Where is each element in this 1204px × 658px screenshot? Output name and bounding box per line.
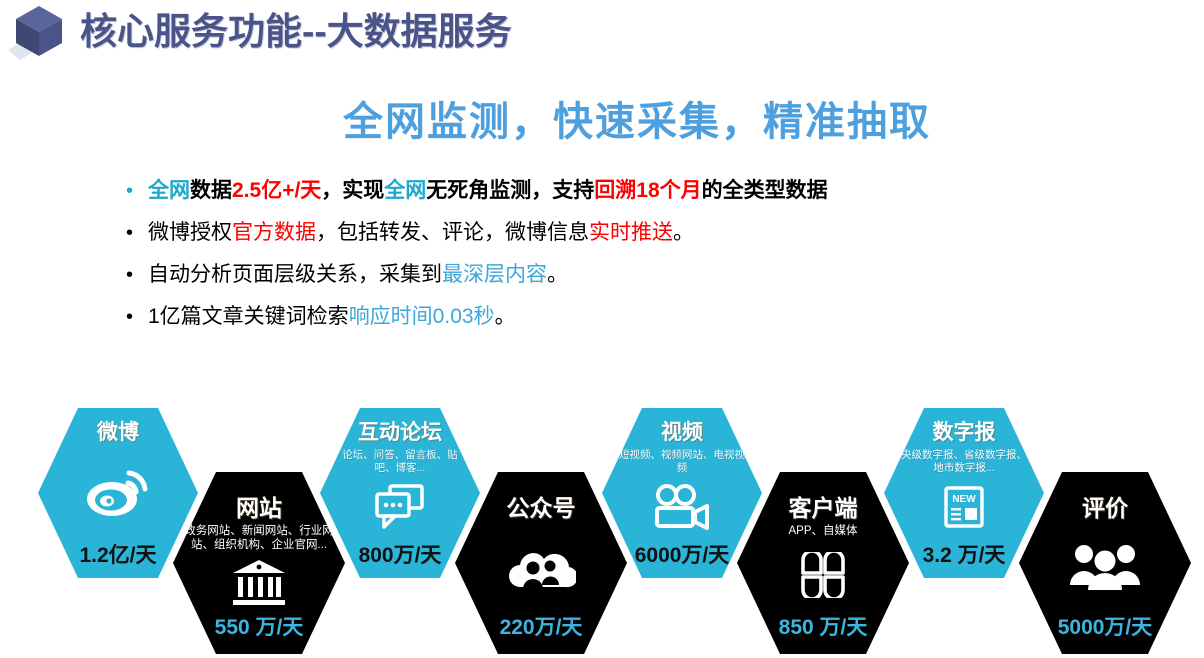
bullet-text-run: 自动分析页面层级关系，采集到 (148, 263, 442, 286)
hexagon-title: 数字报 (933, 421, 996, 445)
hexagon-title: 公众号 (507, 496, 576, 520)
hexagon-title: 客户端 (789, 496, 858, 520)
page-title: 核心服务功能--大数据服务 (80, 1, 512, 55)
hexagon-subtitle: 论坛、问答、留言板、贴吧、博客... (336, 449, 464, 475)
bullet-text-run: 实时推送 (589, 221, 673, 244)
bullet-text-run: ，实现 (321, 179, 384, 202)
bullet-text-run: 全网 (384, 179, 426, 202)
hexagon-card[interactable]: 视频短视频、视频网站、电视视频 6000万/天 (602, 408, 762, 578)
bullet-text-run: 微博授权 (148, 221, 232, 244)
hexagon-value: 5000万/天 (1058, 611, 1153, 654)
hexagon-value: 800万/天 (359, 539, 442, 578)
hero-title: 全网监测，快速采集，精准抽取 (0, 89, 1204, 147)
people-cloud-icon (506, 520, 576, 611)
hexagon-subtitle: 短视频、视频网站、电视视频 (618, 449, 746, 475)
bullet-marker: • (126, 220, 148, 246)
bullet-text-run: 。 (495, 305, 516, 328)
bullet-text-run: 的全类型数据 (702, 179, 828, 202)
bullet-item: •1亿篇文章关键词检索响应时间0.03秒。 (126, 304, 1026, 330)
bullet-marker: • (126, 304, 148, 330)
hexagon-value: 1.2亿/天 (79, 539, 156, 578)
hexagon-value: 6000万/天 (635, 539, 730, 578)
chat-bubbles-icon (374, 475, 426, 539)
bullet-text: 1亿篇文章关键词检索响应时间0.03秒。 (148, 304, 1026, 330)
hexagon-title: 视频 (661, 421, 703, 445)
hexagon-card[interactable]: 微博 1.2亿/天 (38, 408, 198, 578)
hexagon-card[interactable]: 评价 5000万/天 (1019, 472, 1191, 654)
group-people-icon (1067, 520, 1143, 611)
bullet-text-run: 全网 (148, 179, 190, 202)
bank-icon (231, 552, 287, 611)
hexagon-value: 3.2 万/天 (923, 539, 1006, 578)
hexagon-title: 互动论坛 (358, 421, 442, 445)
bullet-marker: • (126, 178, 148, 204)
hexagon-value: 550 万/天 (215, 611, 304, 654)
hexagon-row: 微博 1.2亿/天网站政务网站、新闻网站、行业网站、组织机构、企业官网... 5… (0, 400, 1204, 658)
newspaper-new-icon: NEW (944, 475, 984, 539)
bullet-text-run: 1亿篇文章关键词检索 (148, 305, 349, 328)
bullet-marker: • (126, 262, 148, 288)
hexagon-subtitle: 政务网站、新闻网站、行业网站、组织机构、企业官网... (184, 524, 334, 552)
weibo-icon (85, 445, 151, 539)
page-header: 核心服务功能--大数据服务 (0, 0, 1204, 62)
hexagon-value: 220万/天 (500, 611, 583, 654)
hexagon-card[interactable]: 网站政务网站、新闻网站、行业网站、组织机构、企业官网... 550 万/天 (173, 472, 345, 654)
bullet-item: •自动分析页面层级关系，采集到最深层内容。 (126, 262, 1026, 288)
hexagon-card[interactable]: 公众号 220万/天 (455, 472, 627, 654)
bullet-text-run: 响应时间0.03秒 (349, 305, 495, 328)
hexagon-card[interactable]: 客户端APP、自媒体 850 万/天 (737, 472, 909, 654)
hexagon-title: 微博 (97, 421, 139, 445)
hexagon-subtitle: APP、自媒体 (748, 524, 898, 538)
hexagon-card[interactable]: 数字报央级数字报、省级数字报、地市数字报... NEW 3.2 万/天 (884, 408, 1044, 578)
bullet-text-run: 数据 (190, 179, 232, 202)
bullet-text-run: 官方数据 (232, 221, 316, 244)
bullet-text-run: 。 (547, 263, 568, 286)
cube-icon (8, 2, 72, 60)
hexagon-value: 850 万/天 (779, 611, 868, 654)
bullet-text-run: 无死角监测，支持 (426, 179, 594, 202)
bullet-text: 自动分析页面层级关系，采集到最深层内容。 (148, 262, 1026, 288)
bullet-item: •全网数据2.5亿+/天，实现全网无死角监测，支持回溯18个月的全类型数据 (126, 178, 1026, 204)
bullet-text-run: 回溯18个月 (594, 179, 701, 202)
bullet-text: 微博授权官方数据，包括转发、评论，微博信息实时推送。 (148, 220, 1026, 246)
four-petals-icon (799, 538, 847, 611)
bullet-text-run: 最深层内容 (442, 263, 547, 286)
hexagon-card[interactable]: 互动论坛论坛、问答、留言板、贴吧、博客... 800万/天 (320, 408, 480, 578)
bullet-item: •微博授权官方数据，包括转发、评论，微博信息实时推送。 (126, 220, 1026, 246)
svg-text:NEW: NEW (952, 494, 976, 505)
bullet-text-run: ，包括转发、评论，微博信息 (316, 221, 589, 244)
video-camera-icon (653, 475, 711, 539)
hexagon-title: 评价 (1082, 496, 1128, 520)
hexagon-title: 网站 (236, 496, 282, 520)
bullet-text: 全网数据2.5亿+/天，实现全网无死角监测，支持回溯18个月的全类型数据 (148, 178, 1026, 204)
hexagon-subtitle: 央级数字报、省级数字报、地市数字报... (900, 449, 1028, 475)
bullet-list: •全网数据2.5亿+/天，实现全网无死角监测，支持回溯18个月的全类型数据•微博… (126, 178, 1026, 346)
bullet-text-run: 。 (673, 221, 694, 244)
bullet-text-run: 2.5亿+/天 (232, 179, 321, 202)
